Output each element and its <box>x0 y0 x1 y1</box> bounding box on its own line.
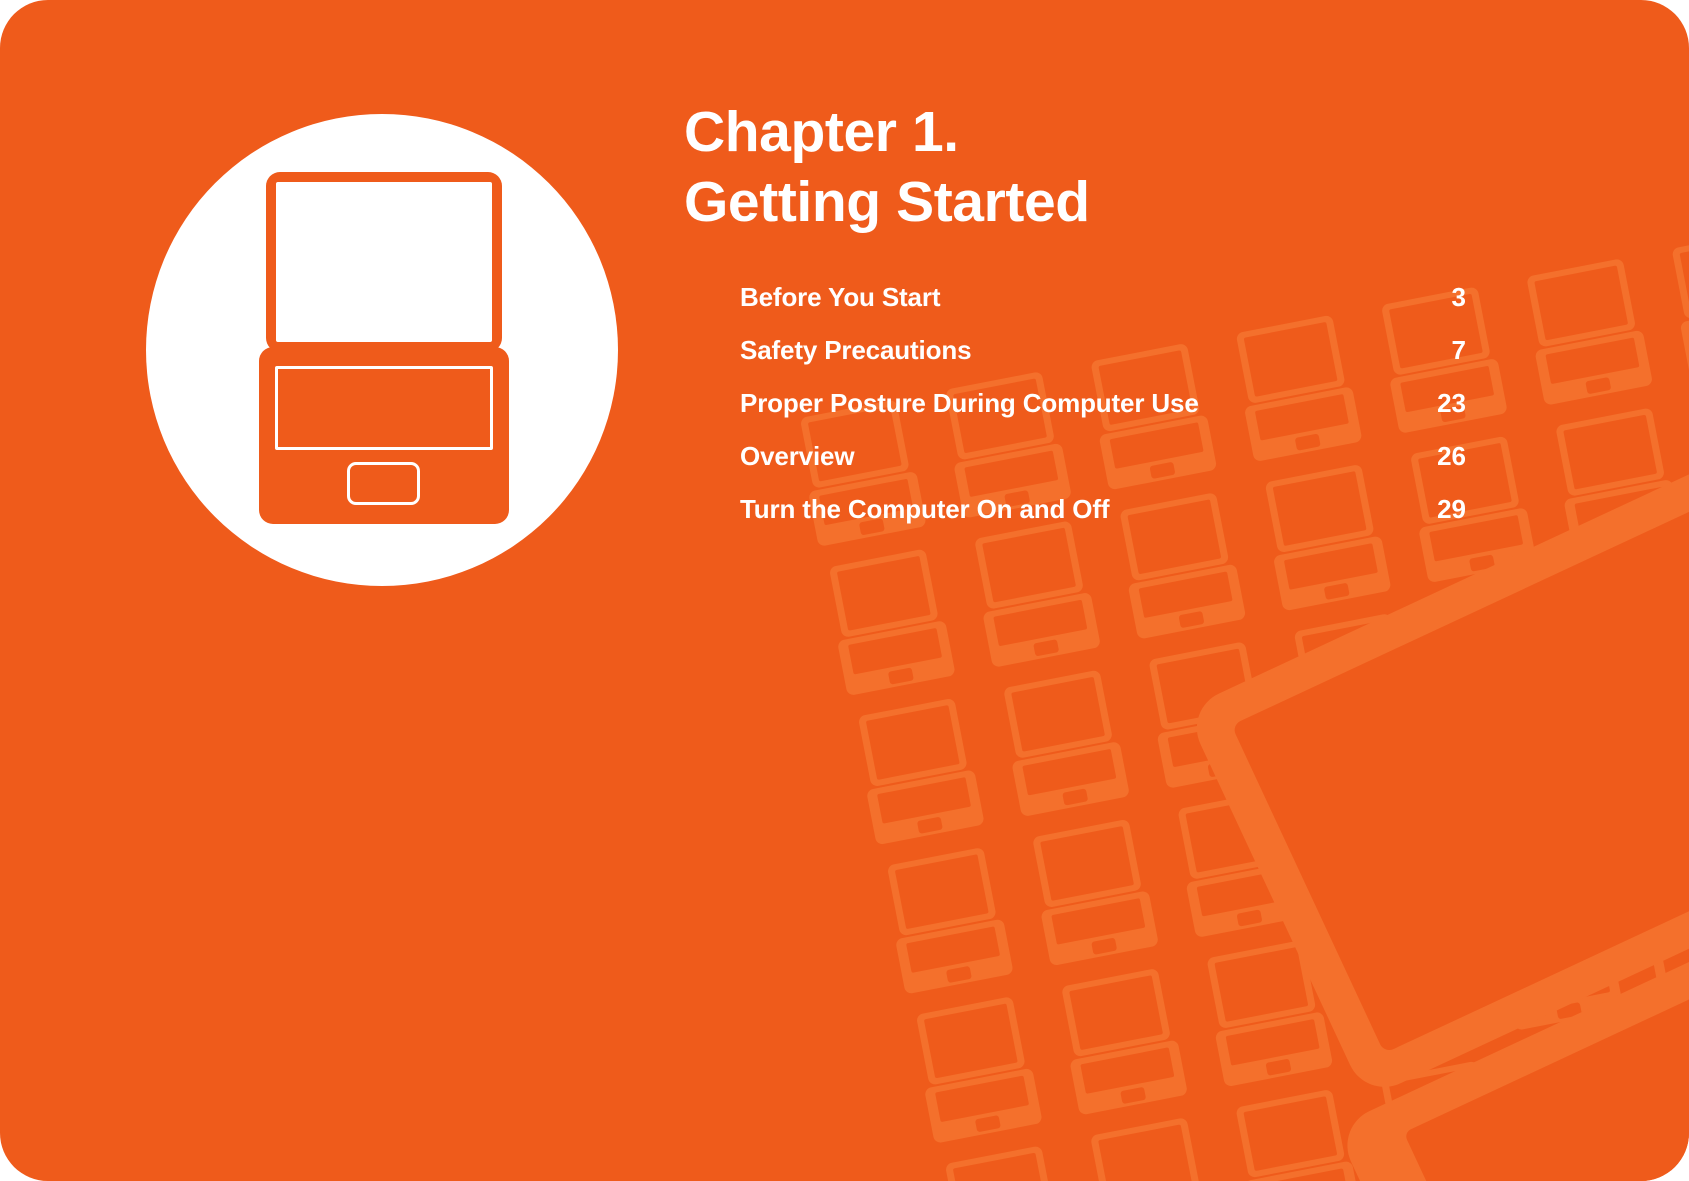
laptop-watermark-icon <box>1284 611 1425 763</box>
laptop-watermark-icon <box>819 547 960 699</box>
laptop-watermark-icon <box>1429 583 1570 735</box>
laptop-watermark-icon <box>1662 228 1689 380</box>
laptop-icon <box>259 172 509 524</box>
laptop-watermark-icon <box>1313 760 1454 912</box>
laptop-watermark-icon <box>1197 938 1338 1090</box>
laptop-watermark-icon <box>993 668 1134 820</box>
laptop-watermark-icon <box>1516 1031 1657 1181</box>
chapter-number-line: Chapter 1. <box>684 98 1484 168</box>
toc-entry[interactable]: Turn the Computer On and Off 29 <box>684 494 1466 547</box>
toc-entry-label: Turn the Computer On and Off <box>684 494 1109 525</box>
laptop-watermark-icon <box>1168 789 1309 941</box>
toc-entry-label: Safety Precautions <box>684 335 971 366</box>
laptop-watermark-icon <box>1632 853 1689 1005</box>
laptop-watermark-icon <box>1080 1115 1221 1181</box>
laptop-watermark-icon <box>1545 405 1686 557</box>
toc-entry[interactable]: Safety Precautions 7 <box>684 335 1466 388</box>
laptop-watermark-icon <box>1226 1087 1367 1181</box>
toc-entry-page: 23 <box>1424 388 1466 419</box>
laptop-watermark-icon <box>935 1144 1076 1181</box>
toc-entry[interactable]: Proper Posture During Computer Use 23 <box>684 388 1466 441</box>
laptop-screen <box>276 182 492 342</box>
toc-entry[interactable]: Before You Start 3 <box>684 282 1466 335</box>
laptop-watermark-icon <box>1139 639 1280 791</box>
chapter-content: Chapter 1. Getting Started Before You St… <box>684 98 1484 547</box>
laptop-watermark-icon <box>1371 1059 1512 1181</box>
laptop-watermark-icon <box>1022 817 1163 969</box>
toc-entry-label: Proper Posture During Computer Use <box>684 388 1199 419</box>
toc-entry-page: 29 <box>1424 494 1466 525</box>
laptop-trackpad <box>347 462 420 505</box>
laptop-watermark-icon <box>1458 732 1599 884</box>
chapter-name-line: Getting Started <box>684 168 1484 238</box>
laptop-watermark-icon <box>877 845 1018 997</box>
laptop-watermark-icon <box>1516 256 1657 408</box>
toc-entry-page: 3 <box>1424 282 1466 313</box>
chapter-cover-page: Chapter 1. Getting Started Before You St… <box>0 0 1689 1181</box>
toc-entry-label: Before You Start <box>684 282 940 313</box>
laptop-watermark-icon <box>1603 704 1689 856</box>
laptop-watermark-icon <box>848 696 989 848</box>
toc-entry-label: Overview <box>684 441 854 472</box>
laptop-watermark-icon <box>906 994 1047 1146</box>
laptop-watermark-icon <box>1574 555 1689 707</box>
page-title: Chapter 1. Getting Started <box>684 98 1484 237</box>
toc-entry-page: 26 <box>1424 441 1466 472</box>
toc-entry-page: 7 <box>1424 335 1466 366</box>
laptop-watermark-icon <box>1051 966 1192 1118</box>
laptop-watermark-icon <box>1661 1002 1689 1154</box>
table-of-contents: Before You Start 3 Safety Precautions 7 … <box>684 282 1466 547</box>
laptop-watermark-icon <box>1487 881 1628 1033</box>
toc-entry[interactable]: Overview 26 <box>684 441 1466 494</box>
laptop-keyboard <box>275 366 493 450</box>
laptop-watermark-icon <box>1342 910 1483 1062</box>
